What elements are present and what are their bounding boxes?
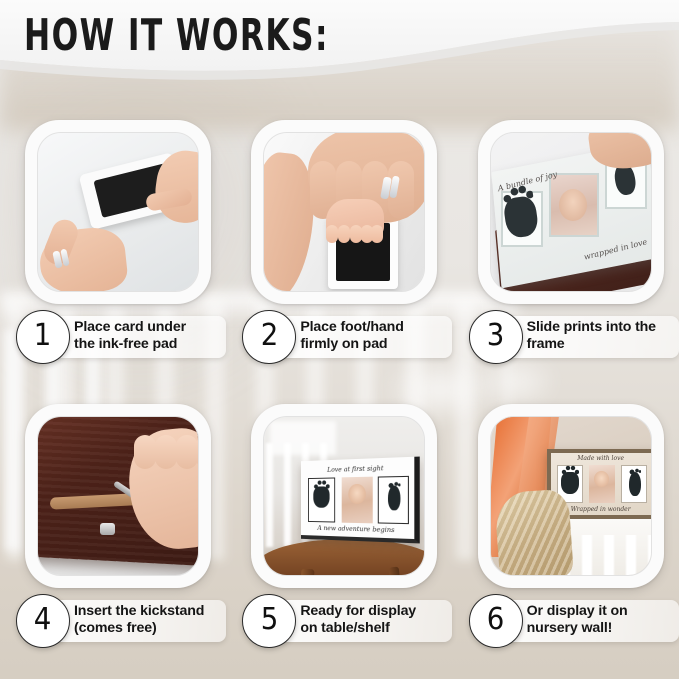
- step-1-scene: [38, 133, 198, 291]
- step-4-scene: [38, 417, 198, 575]
- step-3-number-badge: 3: [469, 310, 523, 364]
- step-3-scene: A bundle of joy wrapped in love: [491, 133, 651, 291]
- wooden-table: [263, 539, 425, 576]
- hand-bottom: [517, 291, 577, 292]
- step-5-label-row: 5 Ready for display on table/shelf: [236, 594, 451, 648]
- step-5-scene: Love at first sight A new adventure begi…: [264, 417, 424, 575]
- step-1-photo-tile: [25, 120, 211, 304]
- step-4-label: Insert the kickstand (comes free): [74, 603, 234, 638]
- step-4-number: 4: [34, 605, 52, 635]
- step-3-number: 3: [487, 321, 505, 351]
- step-6-scene: Made with love Wrapped in wonder: [491, 417, 651, 575]
- step-3: A bundle of joy wrapped in love 3 Slide …: [453, 104, 679, 388]
- step-3-photo-tile: A bundle of joy wrapped in love: [478, 120, 664, 304]
- step-6-number-badge: 6: [469, 594, 523, 648]
- step-1-photo: [37, 132, 199, 292]
- step-5-label-line2: on table/shelf: [300, 620, 460, 637]
- step-4-label-line2: (comes free): [74, 620, 234, 637]
- step-3-photo: A bundle of joy wrapped in love: [490, 132, 652, 292]
- step-4-photo: [37, 416, 199, 576]
- page-title: HOW IT WORKS:: [24, 10, 329, 61]
- step-5-photo: Love at first sight A new adventure begi…: [263, 416, 425, 576]
- step-2-photo: [263, 132, 425, 292]
- footprint-slot: [378, 476, 409, 524]
- step-1-label: Place card under the ink-free pad: [74, 319, 234, 354]
- baby-photo: [551, 175, 597, 235]
- step-3-label-line1: Slide prints into the: [527, 319, 679, 336]
- step-2-label-line1: Place foot/hand: [300, 319, 460, 336]
- step-3-label: Slide prints into the frame: [527, 319, 679, 354]
- table-leg: [299, 569, 315, 576]
- step-2-number: 2: [261, 321, 279, 351]
- step-1-number-badge: 1: [16, 310, 70, 364]
- step-5-label-line1: Ready for display: [300, 603, 460, 620]
- steps-grid: 1 Place card under the ink-free pad: [0, 104, 679, 672]
- step-3-label-row: 3 Slide prints into the frame: [463, 310, 678, 364]
- frame-text-top: Made with love: [551, 455, 651, 462]
- step-6-label-line2: nursery wall!: [527, 620, 679, 637]
- step-6-photo: Made with love Wrapped in wonder: [490, 416, 652, 576]
- knuckles: [134, 435, 199, 469]
- handprint-icon: [314, 486, 330, 507]
- step-4: 4 Insert the kickstand (comes free): [0, 388, 226, 672]
- step-2-label: Place foot/hand firmly on pad: [300, 319, 460, 354]
- handprint-icon: [561, 472, 579, 494]
- step-4-photo-tile: [25, 404, 211, 588]
- baby-photo: [342, 477, 373, 524]
- step-6-label-row: 6 Or display it on nursery wall!: [463, 594, 678, 648]
- step-5: Love at first sight A new adventure begi…: [226, 388, 452, 672]
- step-6-photo-tile: Made with love Wrapped in wonder: [478, 404, 664, 588]
- footprint-icon: [629, 472, 641, 496]
- step-5-number: 5: [261, 605, 279, 635]
- step-1-label-line1: Place card under: [74, 319, 234, 336]
- knit-blanket: [494, 489, 574, 576]
- screw-icon: [100, 523, 115, 535]
- step-2-label-row: 2 Place foot/hand firmly on pad: [236, 310, 451, 364]
- step-5-photo-tile: Love at first sight A new adventure begi…: [251, 404, 437, 588]
- baby-photo: [589, 465, 615, 503]
- step-1: 1 Place card under the ink-free pad: [0, 104, 226, 388]
- step-6: Made with love Wrapped in wonder: [453, 388, 679, 672]
- step-2-label-line2: firmly on pad: [300, 336, 460, 353]
- keepsake-frame: Love at first sight A new adventure begi…: [301, 457, 420, 544]
- step-6-label: Or display it on nursery wall!: [527, 603, 679, 638]
- baby-toes: [326, 225, 384, 245]
- step-4-label-row: 4 Insert the kickstand (comes free): [10, 594, 225, 648]
- step-2-scene: [264, 133, 424, 291]
- step-5-label: Ready for display on table/shelf: [300, 603, 460, 638]
- footprint-icon: [388, 485, 400, 510]
- step-6-number: 6: [487, 605, 505, 635]
- step-4-label-line1: Insert the kickstand: [74, 603, 234, 620]
- frame-text-bottom: A new adventure begins: [301, 524, 414, 535]
- footprint-slot: [621, 465, 647, 503]
- step-2: 2 Place foot/hand firmly on pad: [226, 104, 452, 388]
- step-3-label-line2: frame: [527, 336, 679, 353]
- step-1-number: 1: [34, 321, 52, 351]
- step-2-number-badge: 2: [242, 310, 296, 364]
- step-2-photo-tile: [251, 120, 437, 304]
- step-5-number-badge: 5: [242, 594, 296, 648]
- step-1-label-line2: the ink-free pad: [74, 336, 234, 353]
- step-6-label-line1: Or display it on: [527, 603, 679, 620]
- photo-slot: [589, 465, 615, 503]
- step-4-number-badge: 4: [16, 594, 70, 648]
- frame-text-top: Love at first sight: [301, 463, 414, 474]
- handprint-slot: [308, 477, 335, 522]
- photo-slot: [342, 477, 373, 524]
- step-1-label-row: 1 Place card under the ink-free pad: [10, 310, 225, 364]
- how-it-works-infographic: HOW IT WORKS:: [0, 0, 679, 679]
